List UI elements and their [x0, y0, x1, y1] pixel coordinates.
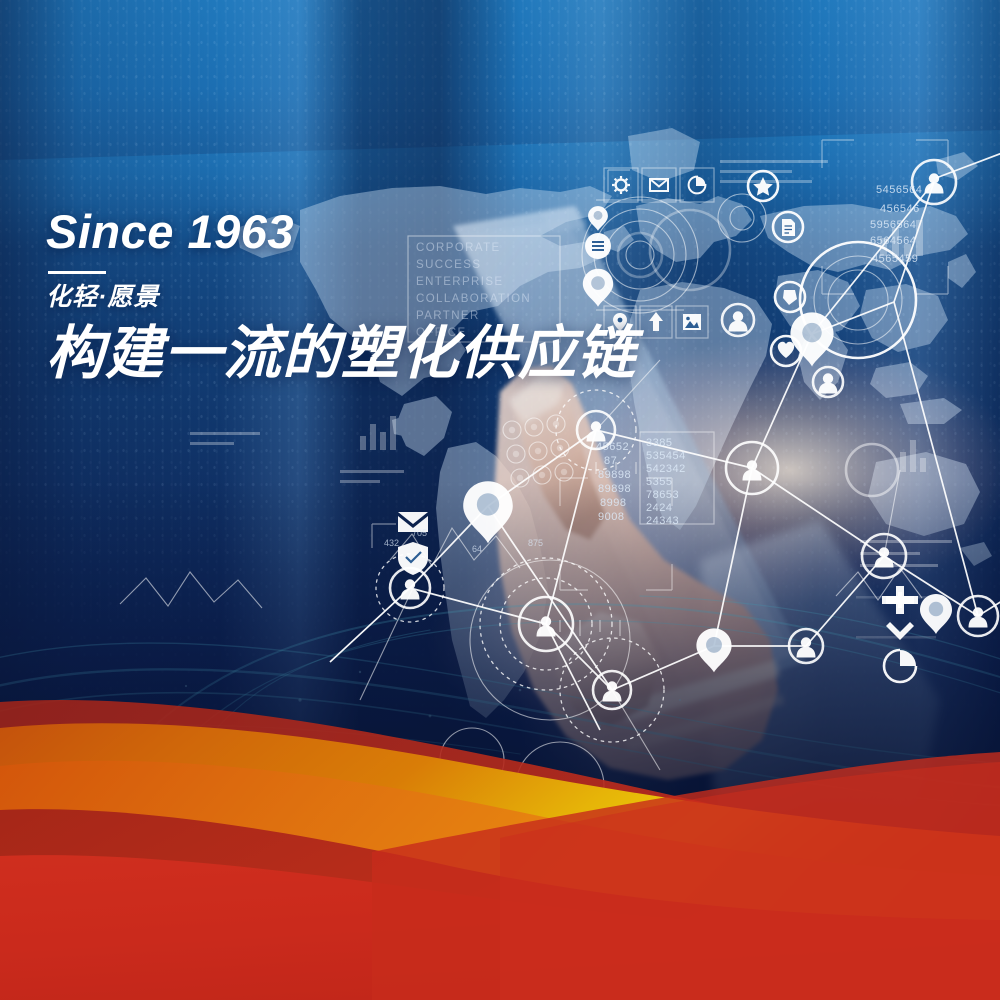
- data-number: 5956564: [870, 219, 916, 231]
- data-number: 89898: [598, 483, 631, 495]
- data-number: 5355: [646, 476, 672, 488]
- data-column-center: 3385 535454 542342 5355 78653 2424 24343: [640, 432, 714, 527]
- data-column-left: 45652 87 89898 89898 8998 9008: [596, 441, 631, 523]
- eyebrow-since-text: Since 1963: [46, 208, 636, 255]
- person-node-icon: [519, 597, 573, 651]
- headline-copy-block: Since 1963 化轻·愿景 构建一流的塑化供应链: [46, 208, 636, 384]
- data-number: 9008: [598, 511, 624, 523]
- data-number: 2424: [646, 502, 672, 514]
- data-number: 5456564: [876, 184, 922, 196]
- data-number: 4565459: [872, 253, 918, 265]
- data-number: 705: [412, 528, 427, 538]
- star-badge-icon: [748, 171, 778, 201]
- person-node-icon: [726, 442, 778, 494]
- data-number: 78653: [646, 489, 679, 501]
- data-number: 3385: [646, 437, 672, 449]
- pie-chart-icon: [680, 168, 714, 202]
- person-node-icon: [912, 160, 956, 204]
- data-number: 64: [472, 544, 482, 554]
- data-number: 875: [528, 538, 543, 548]
- data-number: 456546: [880, 203, 920, 215]
- data-number: 89898: [598, 469, 631, 481]
- data-number: 6564564: [870, 235, 916, 247]
- image-icon: [676, 306, 708, 338]
- bottom-wave-graphic: [0, 670, 1000, 1000]
- person-node-icon: [390, 568, 430, 608]
- data-number: 45652: [596, 441, 629, 453]
- subtitle-text: 化轻·愿景: [46, 285, 636, 310]
- divider-rule: [48, 271, 106, 274]
- plus-icon: [882, 586, 918, 614]
- person-node-icon: [722, 304, 754, 336]
- main-headline-text: 构建一流的塑化供应链: [46, 323, 636, 384]
- document-icon: [773, 212, 803, 242]
- data-number: 24343: [646, 515, 679, 527]
- data-number: 87: [604, 455, 617, 467]
- person-node-icon: [813, 367, 843, 397]
- data-column-right: 5456564 456546 5956564 6564564 4565459: [870, 184, 922, 265]
- banner-image: CORPORATE SUCCESS ENTERPRISE COLLABORATI…: [0, 0, 1000, 1000]
- data-number: 542342: [646, 463, 686, 475]
- data-number: 8998: [600, 497, 626, 509]
- data-number: 535454: [646, 450, 686, 462]
- data-number: 432: [384, 538, 399, 548]
